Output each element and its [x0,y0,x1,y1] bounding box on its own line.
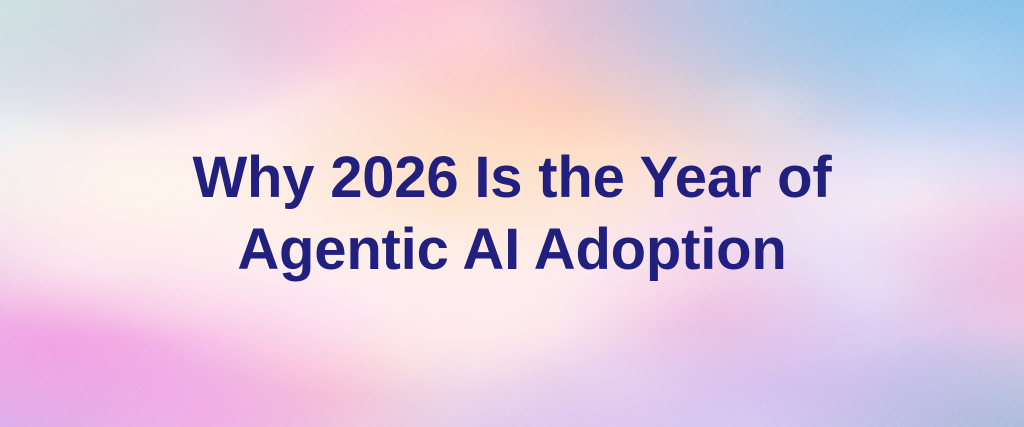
hero-banner: Why 2026 Is the Year of Agentic AI Adopt… [0,0,1024,427]
page-title-line-1: Why 2026 Is the Year of [192,142,831,214]
page-title: Why 2026 Is the Year of Agentic AI Adopt… [192,142,831,286]
headline-container: Why 2026 Is the Year of Agentic AI Adopt… [0,0,1024,427]
page-title-line-2: Agentic AI Adoption [192,214,831,286]
